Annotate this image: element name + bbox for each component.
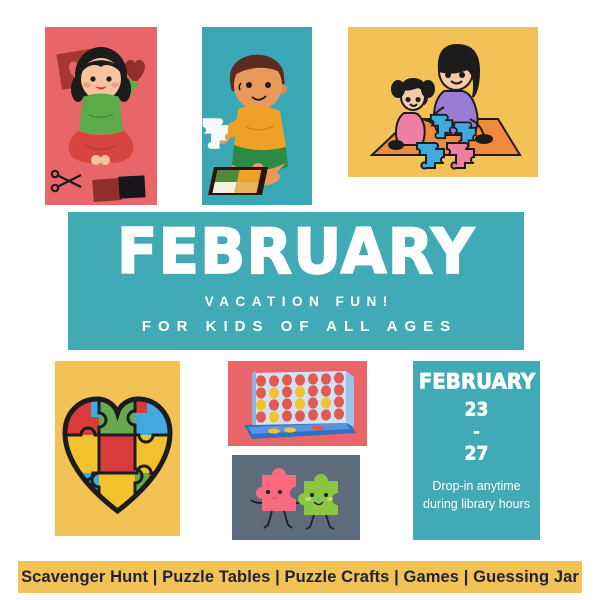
date-card-day-start: 23 (465, 401, 489, 420)
activities-list: Scavenger Hunt | Puzzle Tables | Puzzle … (21, 568, 579, 587)
main-title-banner: FEBRUARY VACATION FUN! FOR KIDS OF ALL A… (68, 212, 524, 350)
date-card-note: Drop-in anytime during library hours (422, 478, 532, 514)
subtitle-line-2: FOR KIDS OF ALL AGES (135, 318, 457, 335)
date-card-day-end: 27 (465, 445, 489, 464)
page-title: FEBRUARY (117, 224, 475, 282)
poster-canvas: FEBRUARY VACATION FUN! FOR KIDS OF ALL A… (0, 0, 600, 600)
photo-mother-and-daughter-doing-puzzle (348, 27, 538, 177)
photo-connect-four-game (228, 361, 367, 446)
photo-boy-with-puzzle-piece (202, 27, 312, 205)
activities-strip: Scavenger Hunt | Puzzle Tables | Puzzle … (18, 561, 582, 593)
photo-girl-making-heart-crafts (45, 27, 157, 205)
event-date-card: FEBRUARY 23 - 27 Drop-in anytime during … (413, 361, 540, 540)
date-card-month: FEBRUARY (418, 370, 534, 394)
date-card-separator: - (473, 425, 479, 440)
photo-puzzle-piece-characters (232, 455, 360, 540)
subtitle-line-1: VACATION FUN! (198, 294, 394, 309)
photo-puzzle-piece-heart (55, 361, 180, 536)
